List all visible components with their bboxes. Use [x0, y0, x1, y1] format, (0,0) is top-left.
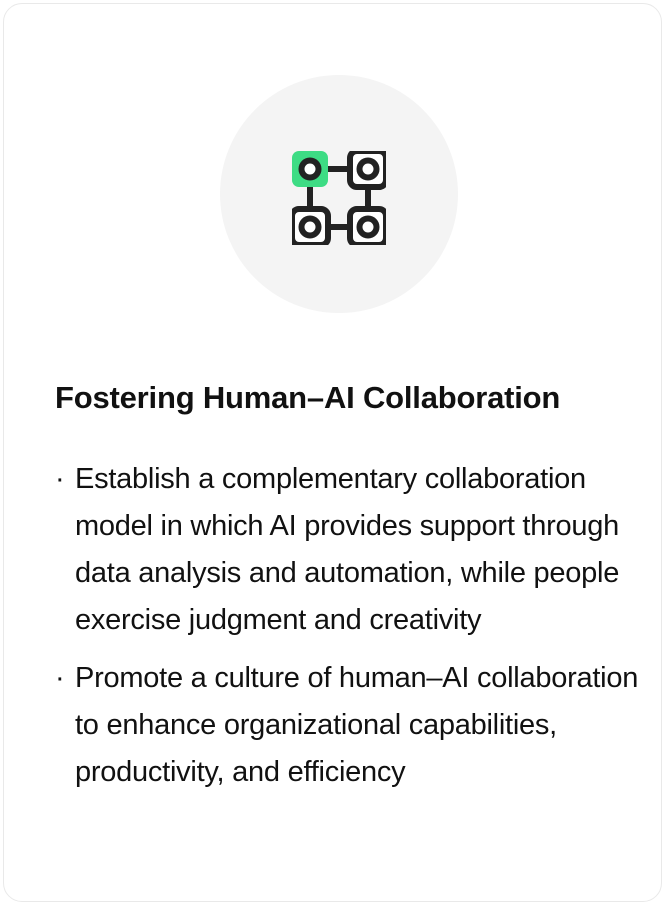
network-nodes-icon: [292, 151, 386, 245]
page-title: Fostering Human–AI Collaboration: [55, 378, 645, 418]
bullet-list: · Establish a complementary collaboratio…: [55, 456, 655, 796]
icon-badge: [220, 75, 458, 313]
list-item: · Establish a complementary collaboratio…: [55, 456, 655, 644]
info-card: Fostering Human–AI Collaboration · Estab…: [3, 3, 662, 902]
list-item: · Promote a culture of human–AI collabor…: [55, 655, 655, 796]
list-item-text: Promote a culture of human–AI collaborat…: [75, 655, 655, 796]
bullet-marker-icon: ·: [55, 655, 69, 702]
list-item-text: Establish a complementary collaboration …: [75, 456, 655, 644]
bullet-marker-icon: ·: [55, 456, 69, 503]
